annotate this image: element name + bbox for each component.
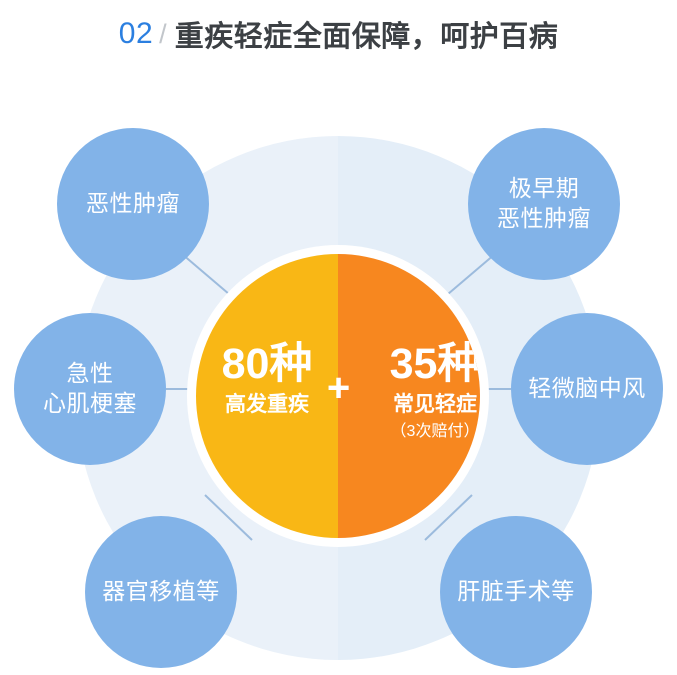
severe-illness-count: 80种 bbox=[196, 342, 338, 387]
severe-illness-label: 高发重疾 bbox=[196, 391, 338, 418]
mild-illness-note: （3次赔付） bbox=[364, 422, 480, 443]
bubble-malignant-tumor[interactable]: 恶性肿瘤 bbox=[57, 128, 209, 280]
center-circle: 80种 高发重疾 35种 常见轻症 （3次赔付） bbox=[196, 254, 480, 538]
bubble-liver-surgery[interactable]: 肝脏手术等 bbox=[440, 516, 592, 668]
mild-illness-label: 常见轻症 bbox=[364, 391, 480, 418]
bubble-label: 急性 心肌梗塞 bbox=[43, 359, 137, 419]
bubble-label: 极早期 恶性肿瘤 bbox=[497, 174, 591, 234]
bubble-acute-myocardial-infarction[interactable]: 急性 心肌梗塞 bbox=[14, 313, 166, 465]
center-half-left: 80种 高发重疾 bbox=[196, 254, 338, 538]
bubble-label: 肝脏手术等 bbox=[457, 577, 575, 607]
bubble-organ-transplant[interactable]: 器官移植等 bbox=[85, 516, 237, 668]
infographic-page: 02 / 重疾轻症全面保障，呵护百病 80种 高发重疾 35种 常见轻症 （3次… bbox=[0, 0, 677, 675]
bubble-early-stage-malignant-tumor[interactable]: 极早期 恶性肿瘤 bbox=[468, 128, 620, 280]
mild-illness-count: 35种 bbox=[364, 342, 480, 387]
bubble-label: 器官移植等 bbox=[102, 577, 220, 607]
center-half-right: 35种 常见轻症 （3次赔付） bbox=[338, 254, 480, 538]
bubble-label: 轻微脑中风 bbox=[528, 374, 646, 404]
bubble-label: 恶性肿瘤 bbox=[86, 189, 180, 219]
bubble-minor-stroke[interactable]: 轻微脑中风 bbox=[511, 313, 663, 465]
